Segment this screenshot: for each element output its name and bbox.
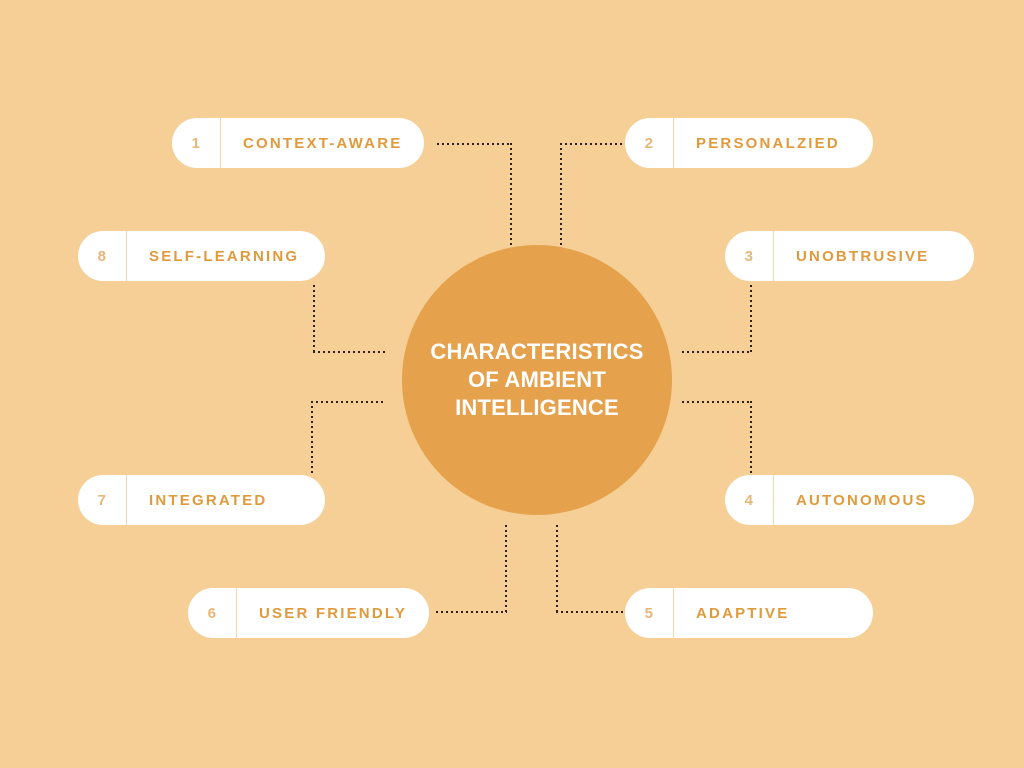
connector-6-vertical — [505, 525, 507, 613]
node-number-3: 3 — [725, 248, 773, 265]
connector-3-vertical — [750, 285, 752, 353]
diagram-canvas: CHARACTERISTICS OF AMBIENT INTELLIGENCE … — [0, 0, 1024, 768]
node-item-2[interactable]: 2 PERSONALZIED — [625, 118, 873, 168]
connector-5-vertical — [556, 525, 558, 613]
connector-6-horizontal — [436, 611, 507, 613]
node-number-6: 6 — [188, 605, 236, 622]
connector-3-horizontal — [682, 351, 752, 353]
node-number-5: 5 — [625, 605, 673, 622]
node-item-6[interactable]: 6 USER FRIENDLY — [188, 588, 429, 638]
node-label-8: SELF-LEARNING — [127, 248, 321, 265]
node-number-4: 4 — [725, 492, 773, 509]
connector-8-vertical — [313, 285, 315, 353]
node-item-8[interactable]: 8 SELF-LEARNING — [78, 231, 325, 281]
connector-7-horizontal — [311, 401, 383, 403]
node-label-1: CONTEXT-AWARE — [221, 135, 424, 152]
connector-7-vertical — [311, 401, 313, 473]
connector-4-vertical — [750, 401, 752, 473]
connector-4-horizontal — [682, 401, 752, 403]
connector-5-horizontal — [556, 611, 628, 613]
connector-1-horizontal — [437, 143, 512, 145]
node-label-6: USER FRIENDLY — [237, 605, 429, 622]
node-label-5: ADAPTIVE — [674, 605, 819, 622]
node-item-3[interactable]: 3 UNOBTRUSIVE — [725, 231, 974, 281]
node-number-7: 7 — [78, 492, 126, 509]
node-item-7[interactable]: 7 INTEGRATED — [78, 475, 325, 525]
connector-8-horizontal — [313, 351, 385, 353]
node-item-1[interactable]: 1 CONTEXT-AWARE — [172, 118, 424, 168]
node-label-7: INTEGRATED — [127, 492, 289, 509]
node-number-1: 1 — [172, 135, 220, 152]
connector-2-horizontal — [560, 143, 630, 145]
node-label-2: PERSONALZIED — [674, 135, 870, 152]
node-number-8: 8 — [78, 248, 126, 265]
center-circle: CHARACTERISTICS OF AMBIENT INTELLIGENCE — [402, 245, 672, 515]
connector-2-vertical — [560, 143, 562, 253]
node-item-5[interactable]: 5 ADAPTIVE — [625, 588, 873, 638]
node-label-4: AUTONOMOUS — [774, 492, 958, 509]
node-number-2: 2 — [625, 135, 673, 152]
center-title: CHARACTERISTICS OF AMBIENT INTELLIGENCE — [422, 338, 652, 422]
connector-1-vertical — [510, 143, 512, 253]
node-item-4[interactable]: 4 AUTONOMOUS — [725, 475, 974, 525]
node-label-3: UNOBTRUSIVE — [774, 248, 959, 265]
